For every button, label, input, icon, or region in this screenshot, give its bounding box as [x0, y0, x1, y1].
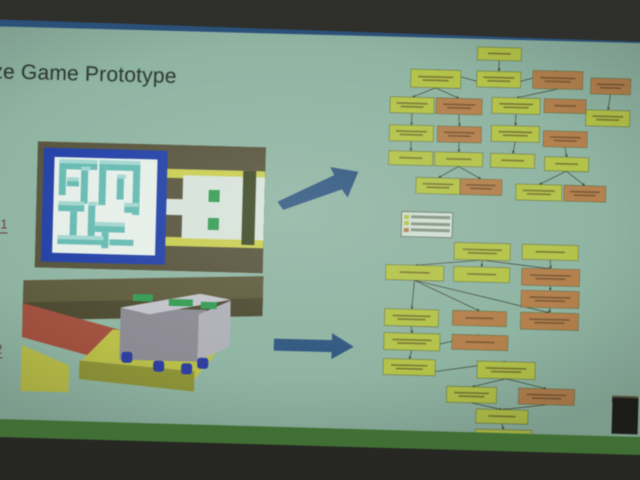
flowchart-node	[383, 359, 435, 376]
flowchart-node	[516, 184, 562, 201]
flowchart-connector	[566, 171, 585, 185]
projected-slide: Maze Game Prototype Stage 1 Stage 2	[0, 26, 640, 447]
flowchart-connector	[506, 379, 547, 389]
flowchart-node	[477, 361, 535, 380]
arrow-to-flowchart-1	[277, 164, 360, 212]
flowchart-node	[477, 71, 521, 88]
flowchart-connector	[411, 326, 412, 333]
legend-swatch-negative	[404, 221, 409, 225]
flowchart-connector	[459, 114, 460, 126]
arrow-to-flowchart-2	[273, 330, 356, 362]
flowchart-node	[434, 152, 482, 167]
flowchart-connector	[472, 378, 506, 388]
flowchart-node	[416, 177, 460, 194]
legend-item: Neutral / Outcome	[404, 227, 450, 233]
legend-label: Neutral / Outcome	[411, 228, 450, 232]
flowchart-connector	[409, 350, 411, 359]
stage-1-maze-screenshot	[35, 141, 266, 273]
legend-label: Negative Interaction	[411, 222, 450, 226]
stage-2-vehicle-screenshot	[20, 267, 263, 397]
flowchart-node	[452, 334, 508, 350]
page-title: Maze Game Prototype	[0, 59, 293, 92]
flowchart-node	[389, 125, 433, 142]
flowchart-node	[490, 153, 534, 168]
legend-swatch-neutral	[404, 228, 409, 232]
stage-1-interaction-flowchart	[381, 40, 636, 231]
legend-swatch-positive	[404, 215, 409, 219]
flowchart-node	[518, 388, 574, 405]
flowchart-connector	[502, 424, 504, 430]
legend-item: Negative Interaction	[404, 221, 450, 227]
flowchart-connector	[608, 94, 610, 110]
flowchart-connector	[435, 88, 459, 99]
flowchart-node	[452, 310, 506, 326]
flowchart-connector	[412, 87, 435, 98]
flowchart-node	[590, 78, 630, 95]
flowchart-node	[544, 157, 588, 172]
flowchart-node	[544, 99, 586, 114]
flowchart-node	[564, 185, 606, 202]
flowchart-node	[543, 131, 587, 148]
flowchart-connector	[414, 280, 481, 311]
flowchart-node	[476, 409, 528, 424]
stage-2-label: Stage 2	[0, 340, 3, 358]
legend-item: Positive Interaction	[404, 214, 450, 220]
flowchart-node	[384, 309, 438, 327]
flowchart-connector	[513, 142, 515, 154]
flowchart-node	[411, 69, 461, 88]
flowchart-node	[522, 244, 578, 260]
flowchart-node	[586, 110, 630, 127]
flowchart-node	[446, 386, 496, 403]
flowchart-connector	[539, 171, 566, 186]
flowchart-node	[453, 266, 509, 282]
flowchart-node	[533, 70, 583, 89]
flowchart-1-legend: Positive Interaction Negative Interactio…	[401, 211, 454, 238]
photo-of-projected-slide: Maze Game Prototype Stage 1 Stage 2	[0, 0, 640, 480]
flowchart-connector	[565, 147, 567, 157]
flowchart-node	[477, 47, 521, 61]
flowchart-node	[521, 290, 579, 309]
flowchart-node	[437, 126, 481, 143]
flowchart-node	[389, 151, 433, 166]
flowchart-connector	[412, 280, 415, 309]
flowchart-connector	[550, 260, 551, 269]
flowchart-connector	[516, 88, 557, 99]
stage-1-label: Stage 1	[0, 215, 8, 233]
flowchart-node	[385, 265, 443, 282]
flowchart-node	[454, 242, 510, 260]
flowchart-node	[492, 97, 540, 114]
legend-label: Positive Interaction	[411, 215, 450, 219]
flowchart-connector	[471, 403, 502, 410]
flowchart-connector	[458, 166, 481, 179]
stage-2-interaction-flowchart	[375, 234, 631, 447]
flowchart-node	[460, 178, 502, 195]
foreground-object	[612, 398, 639, 435]
flowchart-node	[436, 98, 482, 115]
flowchart-node	[390, 97, 434, 114]
flowchart-connector	[438, 166, 458, 179]
flowchart-node	[491, 125, 539, 142]
flowchart-node	[521, 268, 579, 287]
flowchart-node	[384, 333, 440, 351]
flowchart-node	[520, 312, 578, 331]
